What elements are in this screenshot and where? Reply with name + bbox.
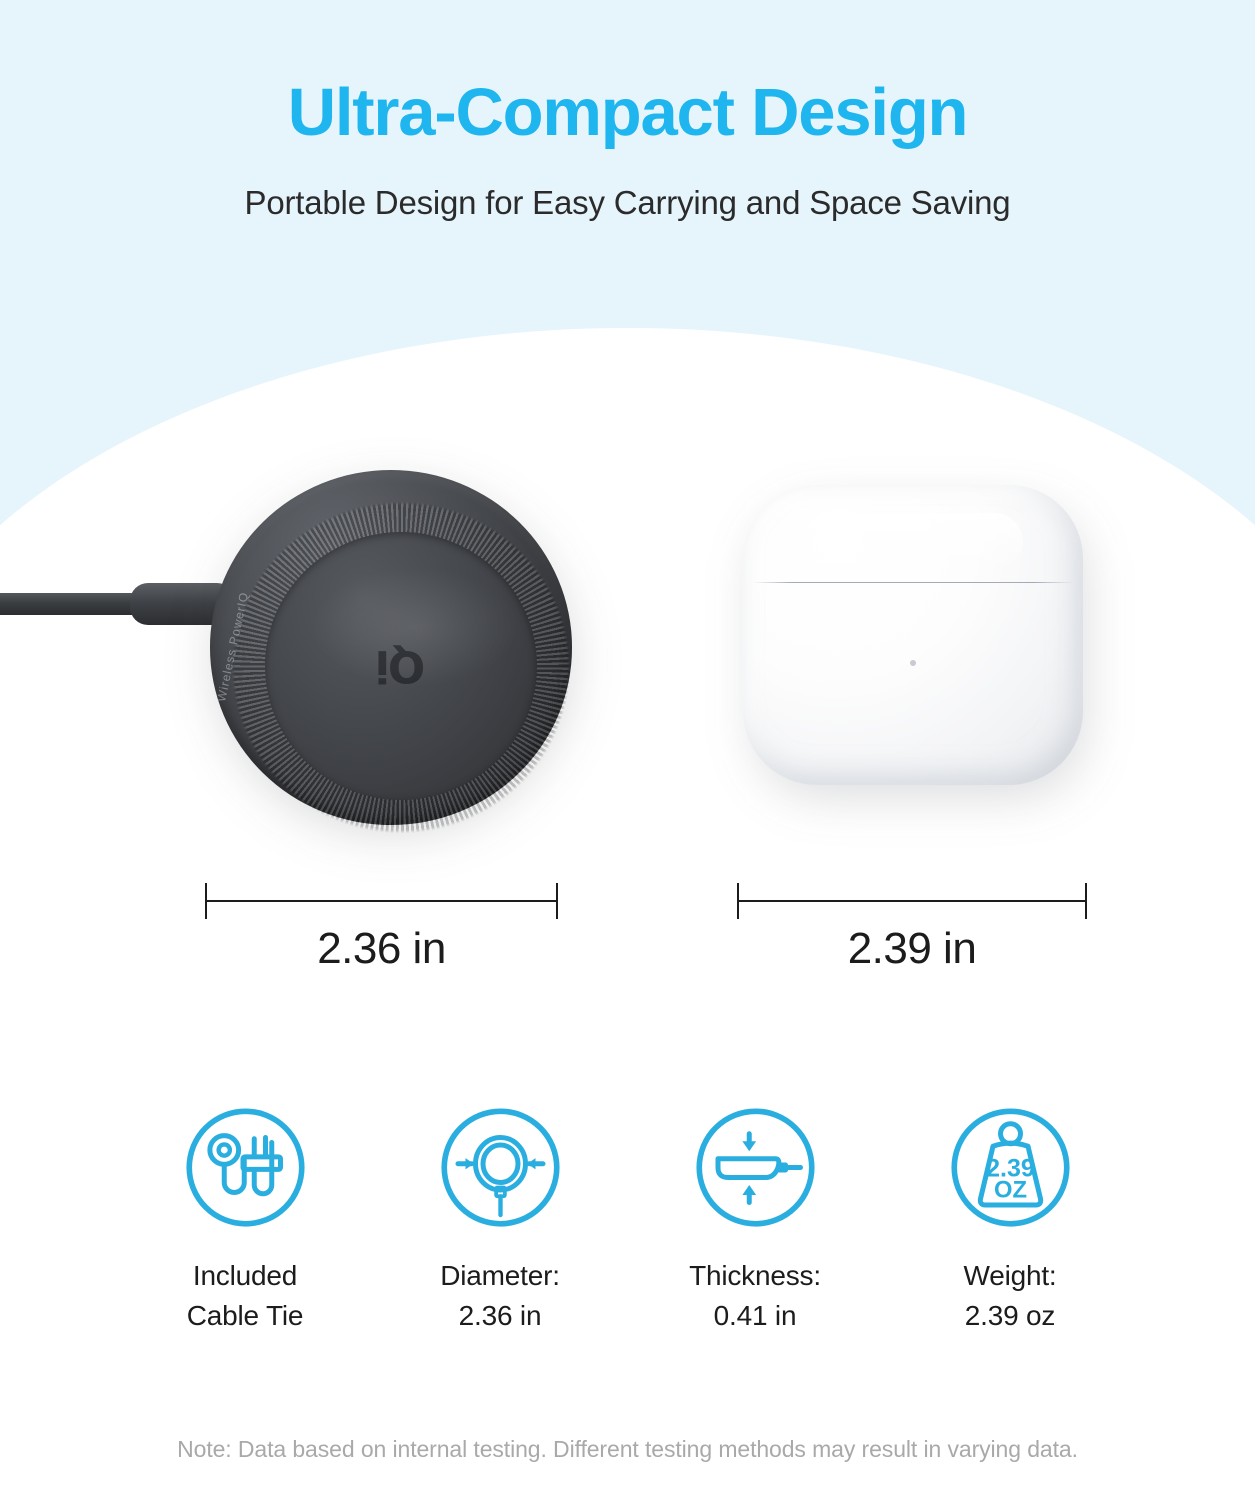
weight-icon: 2.39 OZ xyxy=(948,1105,1073,1230)
feature-label: Thickness: 0.41 in xyxy=(630,1256,880,1336)
feature-item-diameter: Diameter: 2.36 in xyxy=(375,1105,625,1336)
dimension-tick-right xyxy=(556,883,558,919)
feature-item-weight: 2.39 OZ Weight: 2.39 oz xyxy=(885,1105,1135,1336)
weight-badge-unit: OZ xyxy=(994,1177,1027,1204)
cable-tie-icon xyxy=(183,1105,308,1230)
thickness-icon xyxy=(693,1105,818,1230)
page-subtitle: Portable Design for Easy Carrying and Sp… xyxy=(0,184,1255,222)
product-showcase: Qi Wireless PowerIQ xyxy=(0,420,1255,860)
dimension-line xyxy=(205,900,558,902)
dimension-tick-right xyxy=(1085,883,1087,919)
feature-label: Weight: 2.39 oz xyxy=(885,1256,1135,1336)
wireless-charging-pad: Qi Wireless PowerIQ xyxy=(200,450,580,820)
product-feature-graphic: Ultra-Compact Design Portable Design for… xyxy=(0,0,1255,1500)
dimension-line xyxy=(737,900,1087,902)
case-lid-seam xyxy=(753,582,1073,583)
qi-logo: Qi xyxy=(377,641,426,692)
case-gloss-highlight xyxy=(803,513,1023,571)
charger-body: Qi Wireless PowerIQ xyxy=(210,470,572,825)
diameter-icon xyxy=(438,1105,563,1230)
earbuds-charging-case xyxy=(735,475,1095,805)
case-status-led xyxy=(910,660,916,666)
feature-list: Included Cable Tie Diameter: 2.36 in xyxy=(120,1105,1135,1355)
case-body xyxy=(743,485,1083,785)
feature-label: Included Cable Tie xyxy=(120,1256,370,1336)
footnote-disclaimer: Note: Data based on internal testing. Di… xyxy=(120,1432,1135,1467)
page-title: Ultra-Compact Design xyxy=(0,78,1255,148)
dimension-callouts: 2.36 in 2.39 in xyxy=(0,880,1255,1000)
header: Ultra-Compact Design Portable Design for… xyxy=(0,0,1255,222)
dimension-value: 2.36 in xyxy=(205,924,558,974)
feature-item-thickness: Thickness: 0.41 in xyxy=(630,1105,880,1336)
dimension-value: 2.39 in xyxy=(737,924,1087,974)
feature-label: Diameter: 2.36 in xyxy=(375,1256,625,1336)
feature-item-cable-tie: Included Cable Tie xyxy=(120,1105,370,1336)
